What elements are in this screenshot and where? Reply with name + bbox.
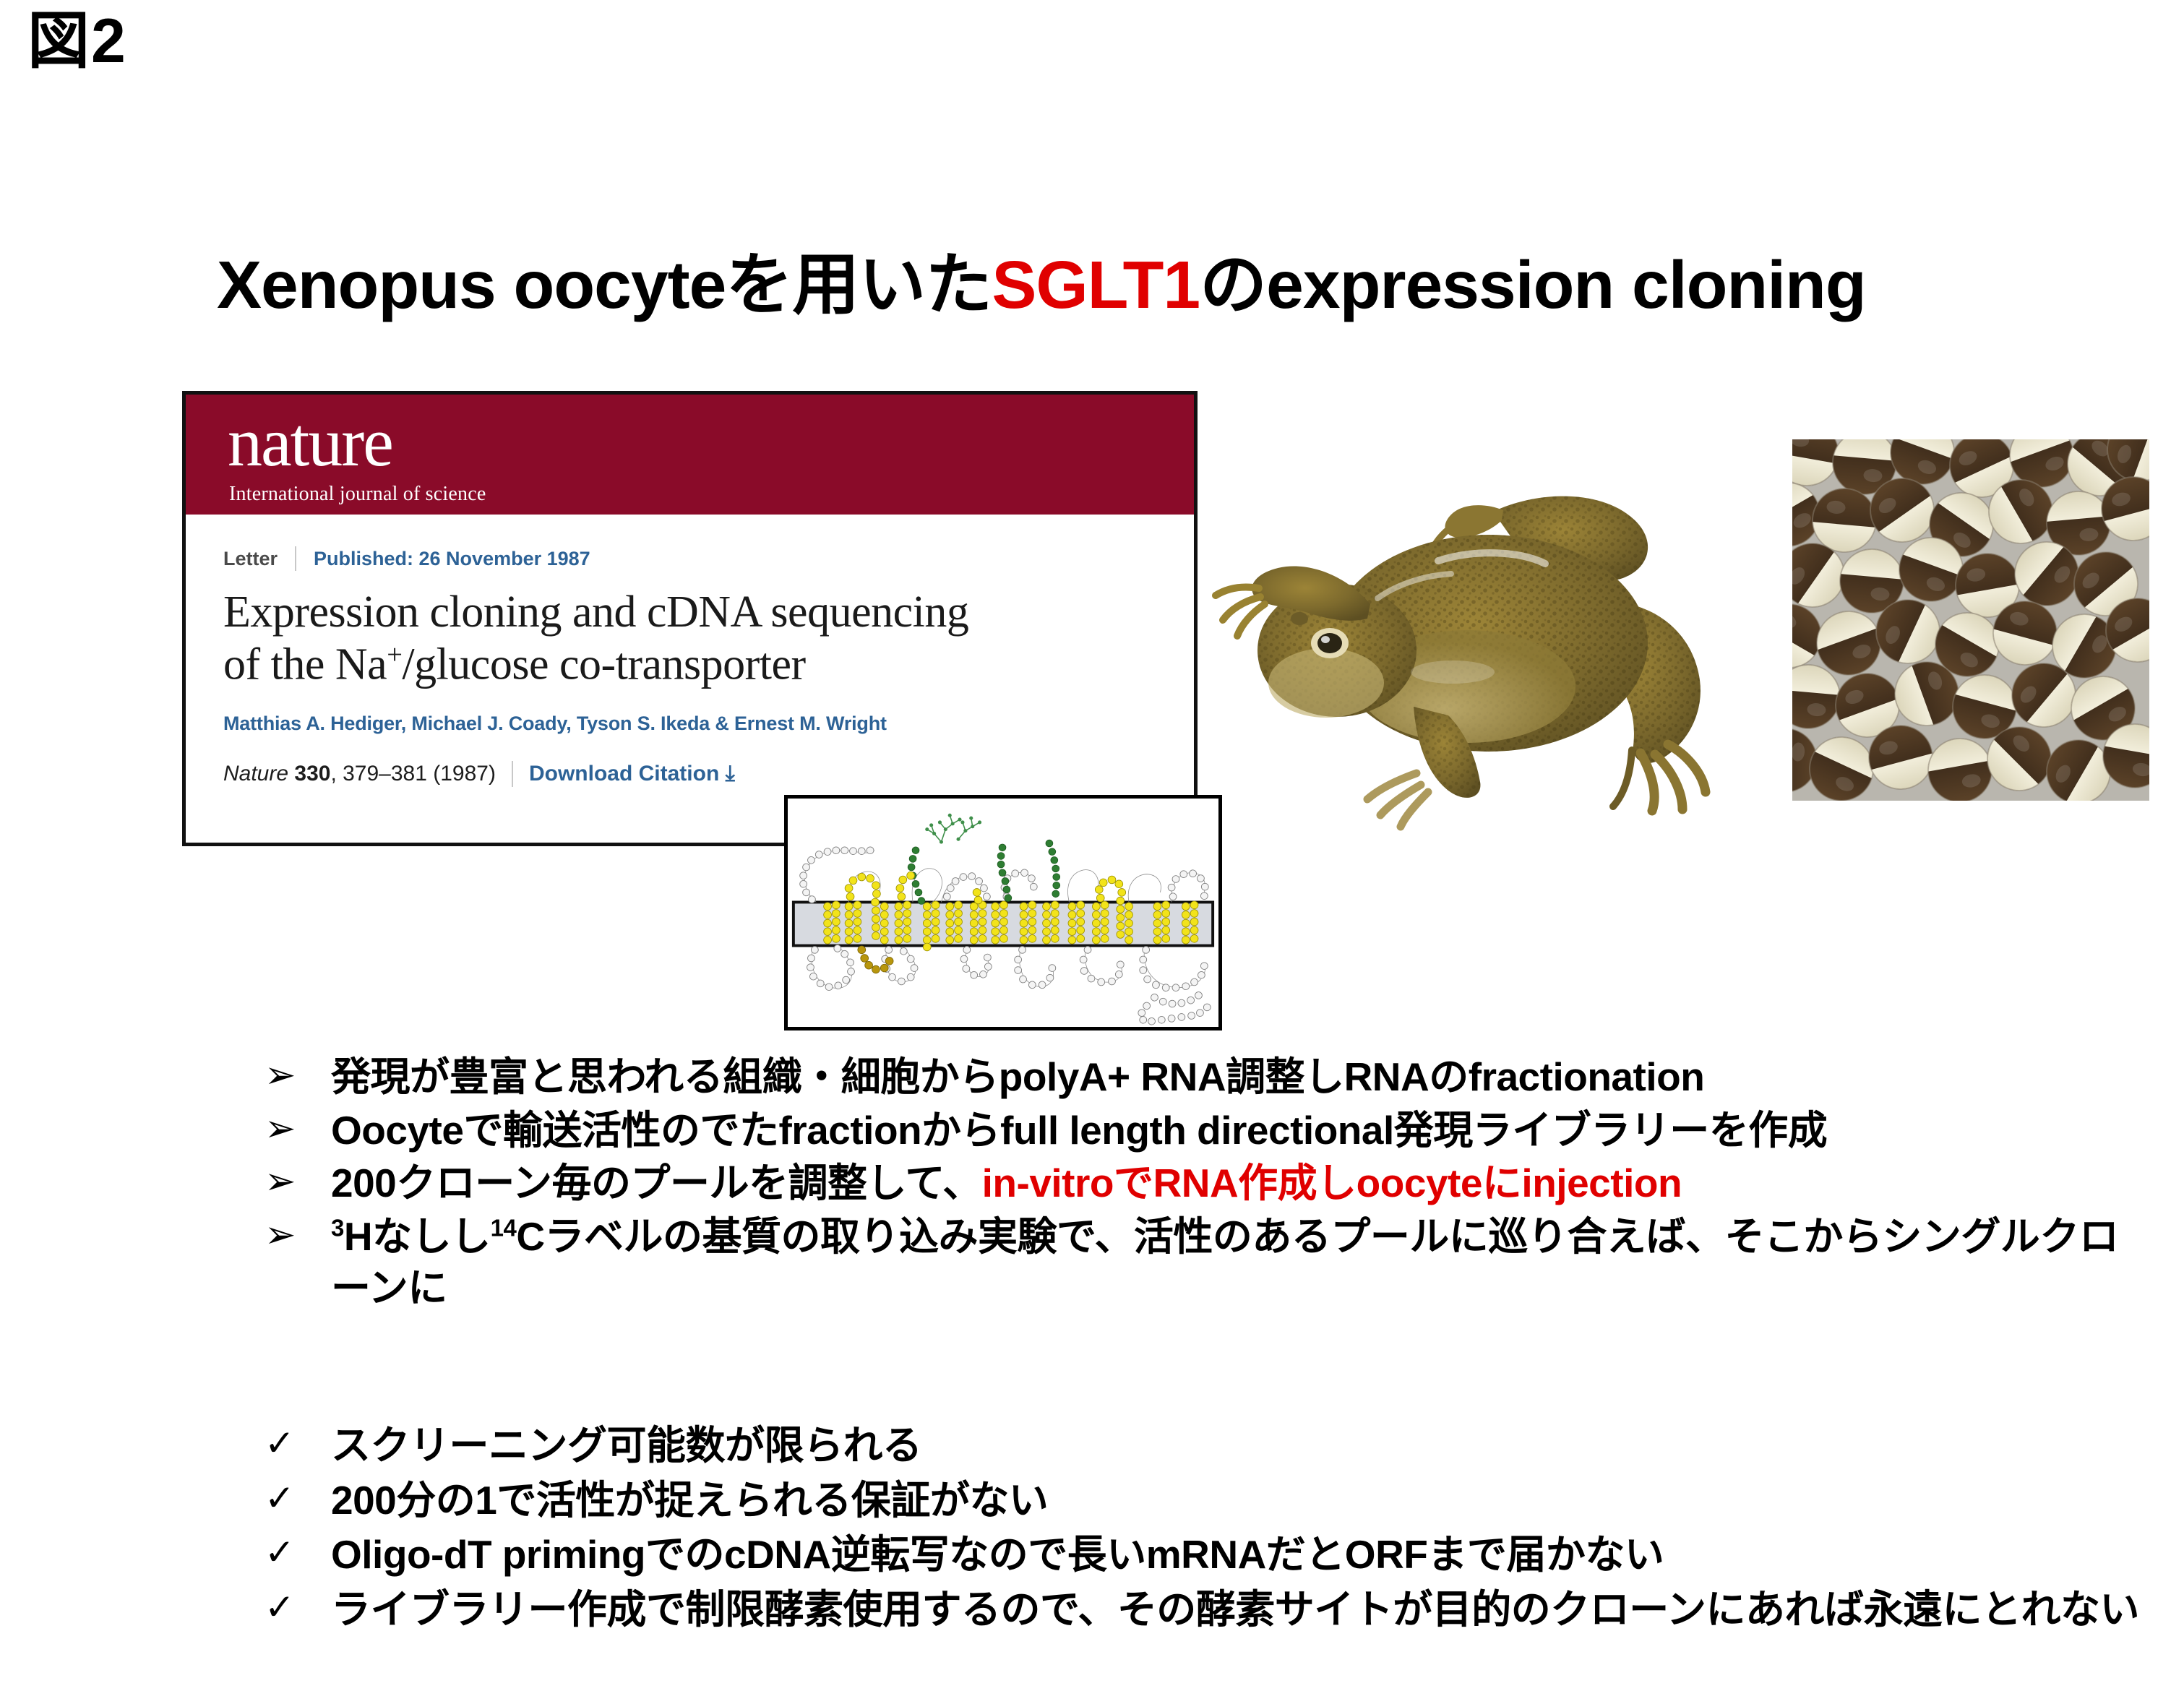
page-title: Xenopus oocyteを用いたSGLT1のexpression cloni… (217, 230, 2168, 327)
article-title-line1: Expression cloning and cDNA sequencing (223, 588, 968, 637)
checkmark-list: ✓ スクリーニング可能数が限られる ✓ 200分の1で活性が捉えられる保証がない… (265, 1420, 2144, 1638)
check-text-3: Oligo-dT primingでのcDNA逆転写なので長いmRNAだとORFま… (331, 1529, 2144, 1581)
check-text-4: ライブラリー作成で制限酵素使用するので、その酵素サイトが目的のクローンにあれば永… (331, 1584, 2144, 1636)
list-item: ➢ 発現が豊富と思われる組織・細胞からpolyA+ RNA調整しRNAのfrac… (265, 1051, 2144, 1103)
article-type-label: Letter (223, 548, 278, 570)
arrow-bullet-icon: ➢ (265, 1158, 331, 1207)
bullet-text-3: 200クローン毎のプールを調整して、in-vitroでRNA作成しoocyteに… (331, 1158, 2144, 1210)
bullet-text-2: Oocyteで輸送活性のでたfractionからfull length dire… (331, 1105, 2144, 1157)
list-item: ✓ スクリーニング可能数が限られる (265, 1420, 2144, 1472)
nature-header-banner: nature International journal of science (186, 395, 1194, 515)
article-authors[interactable]: Matthias A. Hediger, Michael J. Coady, T… (223, 713, 1156, 735)
xenopus-oocytes-photo (1792, 439, 2149, 801)
citation-volume: 330 (294, 762, 330, 786)
bullet-text-1: 発現が豊富と思われる組織・細胞からpolyA+ RNA調整しRNAのfracti… (331, 1051, 2144, 1103)
citation-divider (512, 761, 513, 787)
arrow-bullet-icon: ➢ (265, 1211, 331, 1260)
isotope-superscript-14: 14 (491, 1214, 517, 1241)
list-item: ➢ 3Hなしし14Cラベルの基質の取り込み実験で、活性のあるプールに巡り合えば、… (265, 1211, 2144, 1314)
topology-illustration (788, 799, 1218, 1027)
bullet-text-3-plain: 200クローン毎のプールを調整して、 (331, 1161, 982, 1205)
xenopus-frog-photo (1200, 434, 1771, 838)
citation-pages: , 379–381 (1987) (330, 762, 496, 786)
figure-label: 図2 (27, 7, 127, 76)
citation-journal: Nature (223, 762, 288, 786)
bullet-text-4-part1: Hなしし (344, 1214, 491, 1259)
isotope-superscript-3: 3 (331, 1214, 344, 1241)
article-citation-row: Nature 330, 379–381 (1987) Download Cita… (223, 761, 1156, 787)
bullet-text-3-accent: in-vitroでRNA作成しoocyteにinjection (982, 1161, 1682, 1205)
nature-article-card: nature International journal of science … (182, 391, 1198, 846)
download-citation-link[interactable]: Download Citation ⤓ (529, 762, 735, 786)
arrow-bullet-icon: ➢ (265, 1051, 331, 1101)
check-bullet-icon: ✓ (265, 1584, 331, 1631)
list-item: ➢ 200クローン毎のプールを調整して、in-vitroでRNA作成しoocyt… (265, 1158, 2144, 1210)
article-title-line2-post: /glucose co-transporter (402, 640, 805, 689)
arrow-bullet-list: ➢ 発現が豊富と思われる組織・細胞からpolyA+ RNA調整しRNAのfrac… (265, 1051, 2144, 1316)
nature-article-body: Letter Published: 26 November 1987 Expre… (186, 515, 1194, 787)
check-bullet-icon: ✓ (265, 1420, 331, 1467)
article-meta-row: Letter Published: 26 November 1987 (223, 546, 1156, 571)
check-text-1: スクリーニング可能数が限られる (331, 1420, 2144, 1472)
arrow-bullet-icon: ➢ (265, 1105, 331, 1154)
oocyte-illustration (1792, 439, 2149, 801)
sglt1-membrane-topology-diagram (784, 795, 1222, 1030)
article-title-superscript: + (387, 640, 402, 670)
frog-illustration (1200, 434, 1771, 838)
meta-divider (295, 546, 296, 571)
list-item: ➢ Oocyteで輸送活性のでたfractionからfull length di… (265, 1105, 2144, 1157)
article-title: Expression cloning and cDNA sequencing o… (223, 587, 1156, 691)
page-title-part-before: Xenopus oocyteを用いた (217, 247, 992, 322)
list-item: ✓ ライブラリー作成で制限酵素使用するので、その酵素サイトが目的のクローンにあれ… (265, 1584, 2144, 1636)
page-title-part-after: のexpression cloning (1200, 247, 1866, 322)
check-bullet-icon: ✓ (265, 1529, 331, 1576)
page-title-accent: SGLT1 (992, 247, 1200, 322)
list-item: ✓ Oligo-dT primingでのcDNA逆転写なので長いmRNAだとOR… (265, 1529, 2144, 1581)
article-published-date[interactable]: Published: 26 November 1987 (314, 548, 590, 570)
article-title-line2-pre: of the Na (223, 640, 387, 689)
bullet-text-4-part2: Cラベルの基質の取り込み実験で、活性のあるプールに巡り合えば、そこからシングルク… (331, 1214, 2118, 1311)
bullet-text-4: 3Hなしし14Cラベルの基質の取り込み実験で、活性のあるプールに巡り合えば、そこ… (331, 1211, 2144, 1314)
check-text-2: 200分の1で活性が捉えられる保証がない (331, 1475, 2144, 1527)
check-bullet-icon: ✓ (265, 1475, 331, 1522)
nature-logo: nature (228, 408, 392, 477)
list-item: ✓ 200分の1で活性が捉えられる保証がない (265, 1475, 2144, 1527)
citation-text: Nature 330, 379–381 (1987) (223, 762, 496, 786)
nature-tagline: International journal of science (229, 483, 486, 506)
